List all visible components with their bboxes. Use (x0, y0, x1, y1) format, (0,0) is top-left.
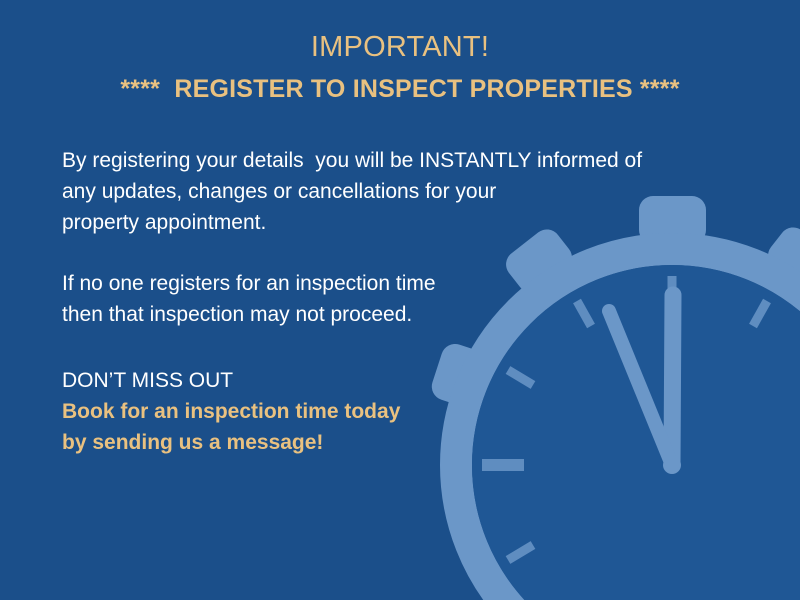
paragraph-no-registration-warning: If no one registers for an inspection ti… (62, 268, 722, 330)
body-line: property appointment. (62, 211, 266, 234)
headline-important: IMPORTANT! (0, 28, 800, 66)
body-line: then that inspection may not proceed. (62, 303, 412, 326)
body-line: any updates, changes or cancellations fo… (62, 180, 496, 203)
headline-register-to-inspect: **** REGISTER TO INSPECT PROPERTIES **** (0, 71, 800, 107)
slide-content: IMPORTANT! **** REGISTER TO INSPECT PROP… (0, 0, 800, 600)
cta-dont-miss-out: DON’T MISS OUT (62, 365, 722, 396)
cta-send-message: by sending us a message! (62, 427, 722, 458)
cta-book-inspection: Book for an inspection time today (62, 396, 722, 427)
paragraph-registering-details: By registering your details you will be … (62, 145, 722, 238)
body-line: If no one registers for an inspection ti… (62, 272, 436, 295)
headline-block: IMPORTANT! **** REGISTER TO INSPECT PROP… (0, 28, 800, 107)
slide-canvas: IMPORTANT! **** REGISTER TO INSPECT PROP… (0, 0, 800, 600)
body-line: By registering your details you will be … (62, 149, 642, 172)
body-block: By registering your details you will be … (62, 145, 722, 330)
call-to-action-block: DON’T MISS OUT Book for an inspection ti… (62, 365, 722, 458)
